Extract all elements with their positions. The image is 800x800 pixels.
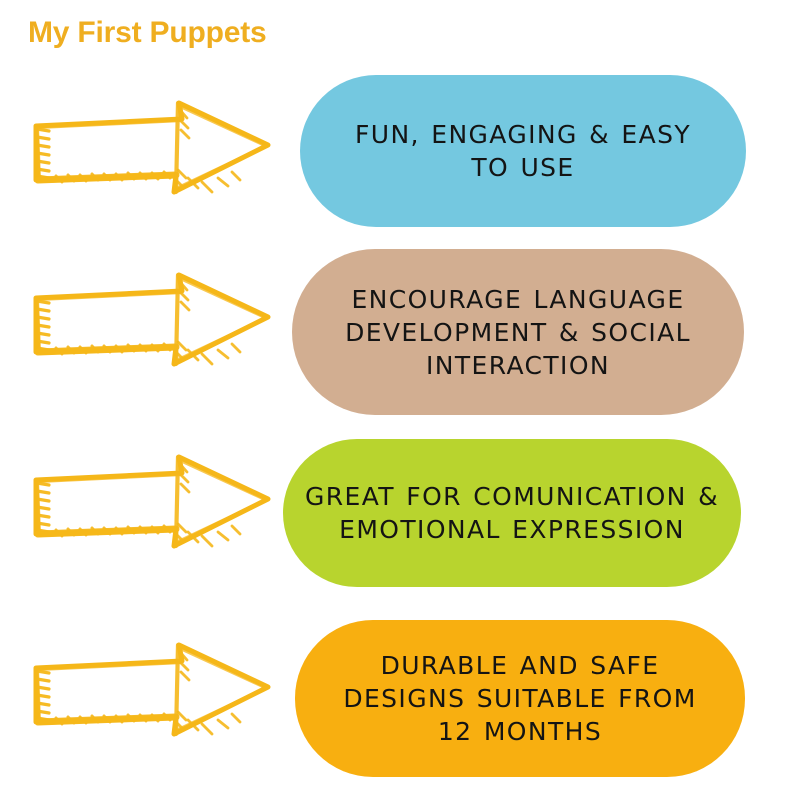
benefit-pill[interactable]: Encourage language development & social … (292, 249, 744, 415)
right-arrow-icon (22, 268, 278, 376)
benefit-pill[interactable]: Durable and safe designs suitable from 1… (295, 620, 745, 777)
right-arrow-icon (22, 450, 278, 558)
benefit-text: Encourage language development & social … (345, 283, 691, 382)
right-arrow-icon (22, 638, 278, 746)
infographic-canvas: My First Puppets (0, 0, 800, 800)
benefit-text: Great for comunication & emotional expre… (305, 480, 719, 546)
benefit-row: Encourage language development & social … (0, 0, 800, 240)
benefit-text: Durable and safe designs suitable from 1… (343, 649, 696, 748)
benefit-pill[interactable]: Great for comunication & emotional expre… (283, 439, 741, 587)
